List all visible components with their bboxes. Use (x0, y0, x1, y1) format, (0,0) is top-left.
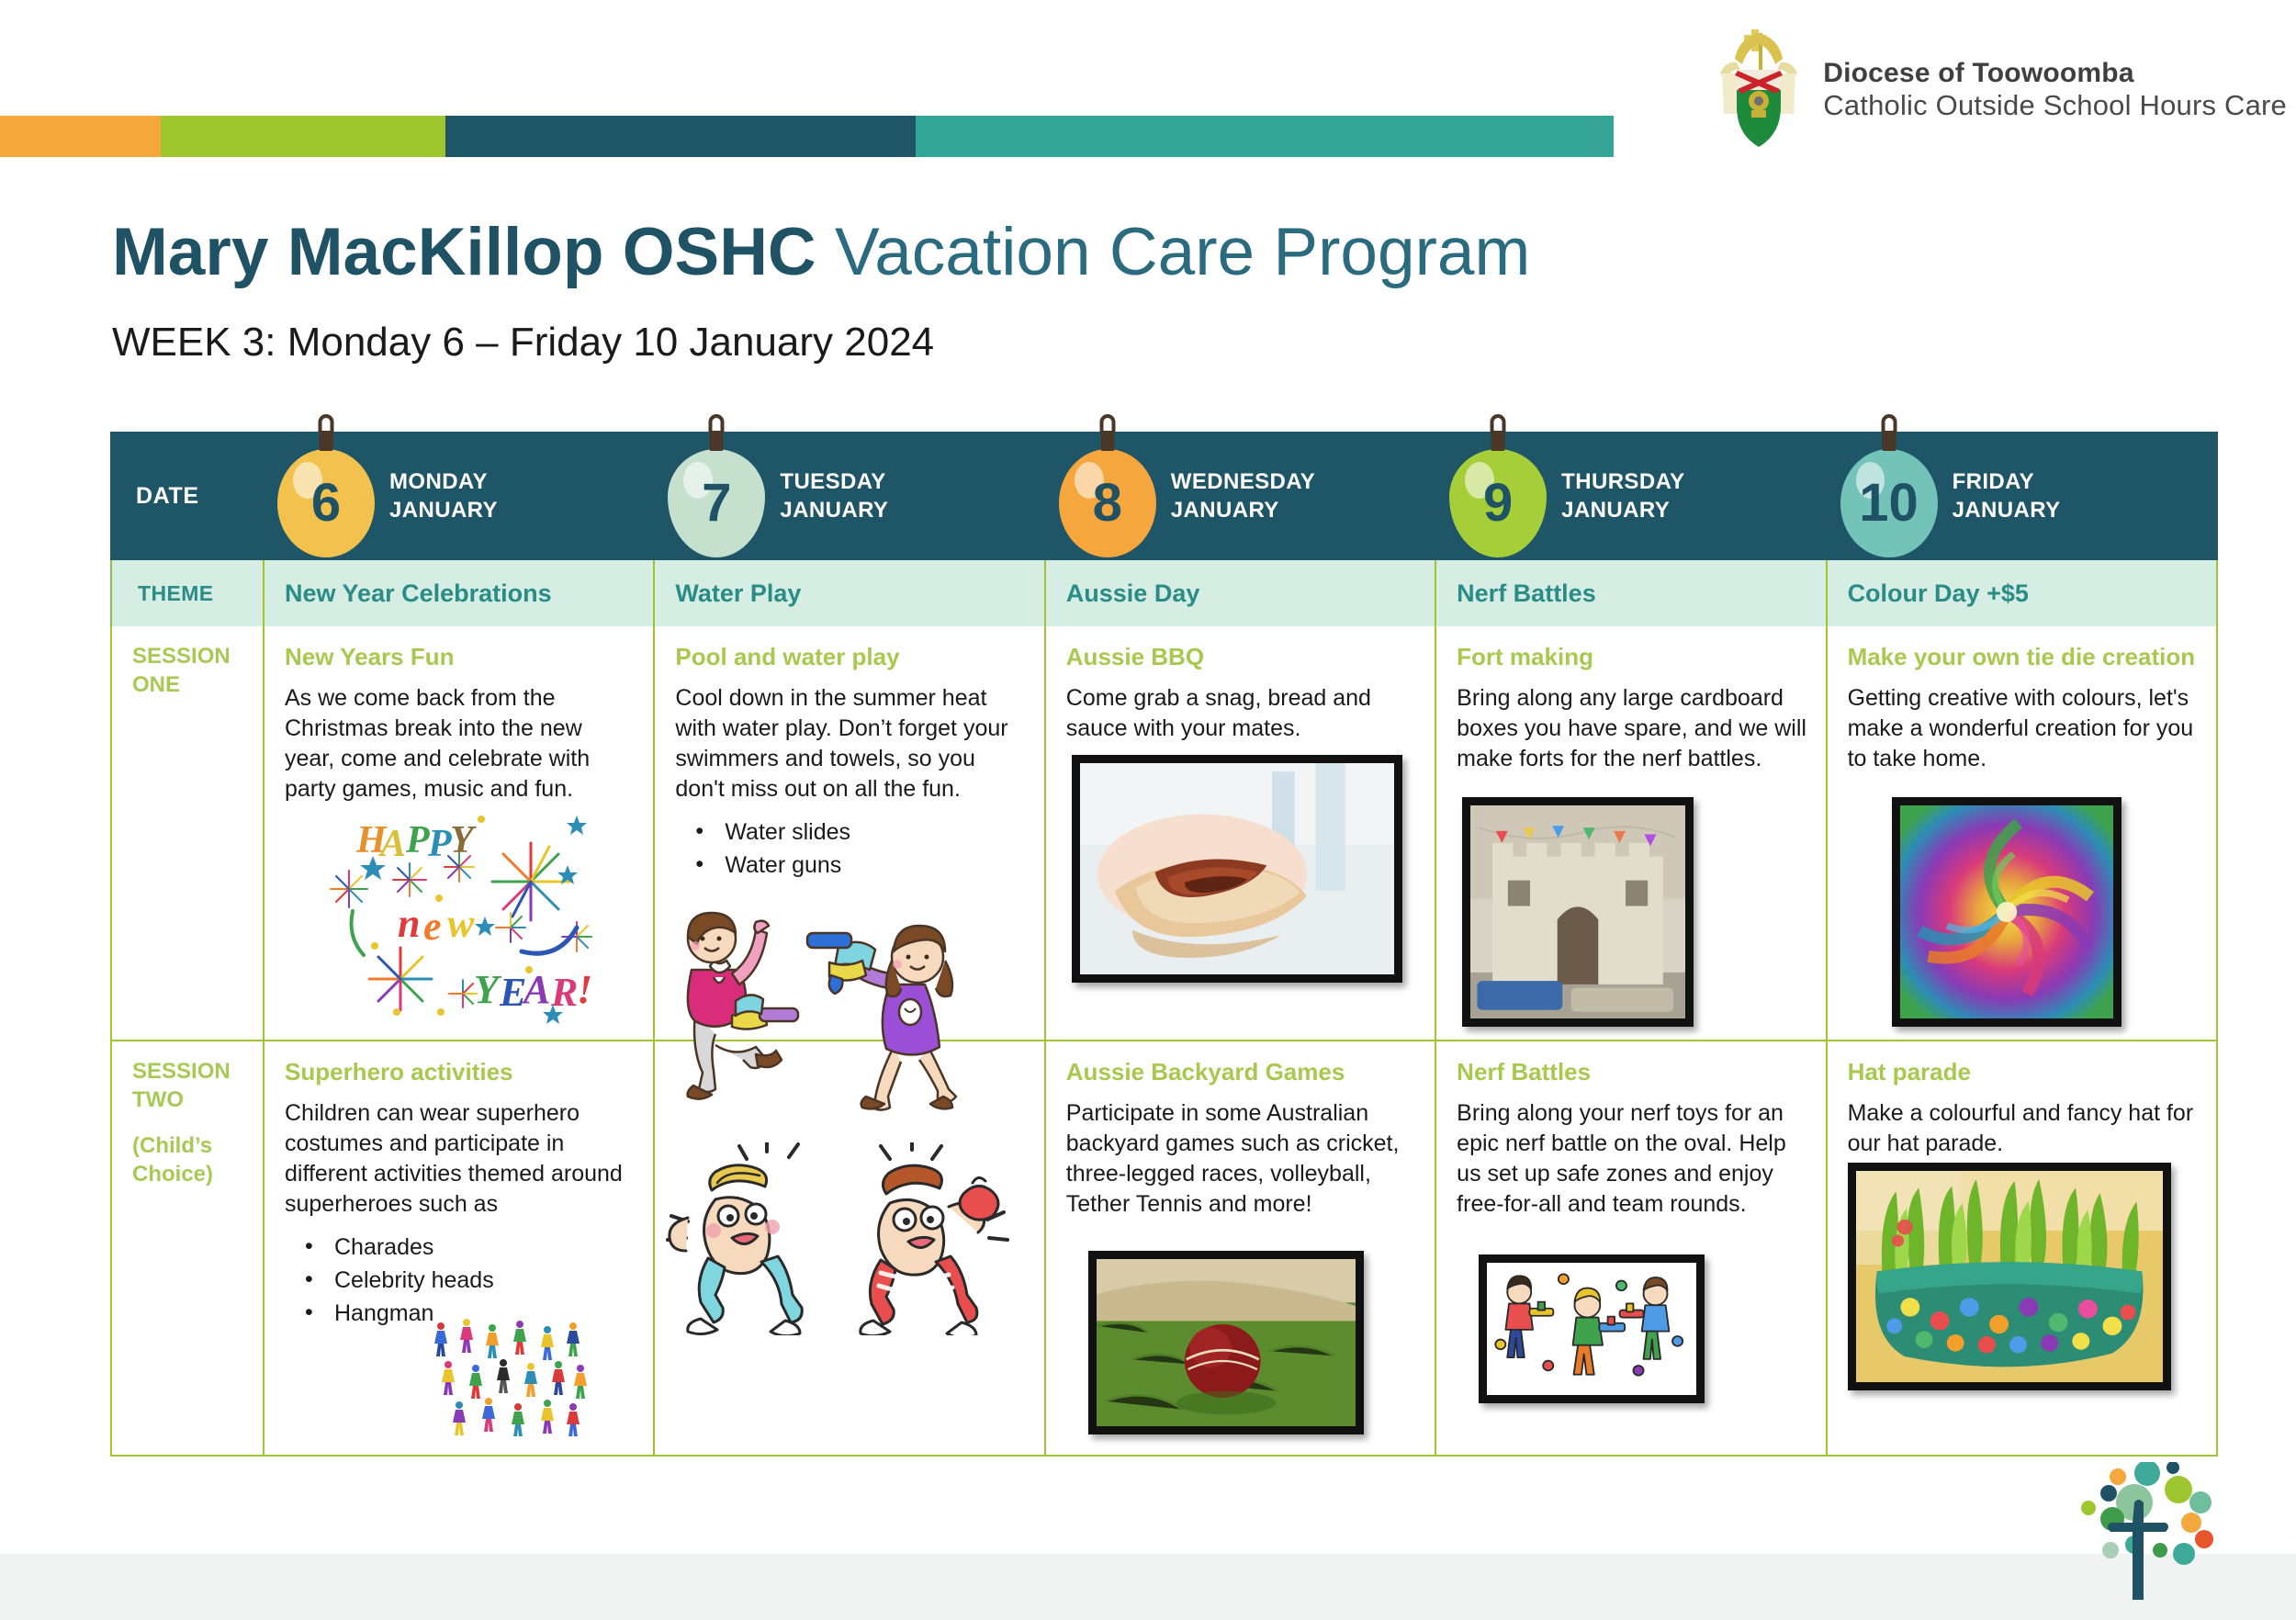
activity-title: Aussie Backyard Games (1066, 1058, 1416, 1087)
bottom-grey-strip (0, 1554, 2296, 1620)
svg-text:P: P (427, 823, 452, 865)
session-two-label: SESSIONTWO (132, 1058, 244, 1114)
colour-band-lime (161, 116, 445, 157)
page-subtitle: WEEK 3: Monday 6 – Friday 10 January 202… (112, 320, 934, 366)
activity-bullets: Charades Celebrity heads Hangman (285, 1231, 635, 1331)
ornament-thursday-icon: 9 (1449, 427, 1547, 565)
session-two-cell-tuesday (655, 1041, 1045, 1455)
theme-value: Nerf Battles (1457, 579, 1596, 608)
session-one-label-cell: SESSIONONE (110, 626, 264, 1040)
logo-line-2: Catholic Outside School Hours Care (1823, 89, 2287, 123)
session-two-cell-friday: Hat parade Make a colourful and fancy ha… (1828, 1041, 2218, 1455)
activity-title: New Years Fun (285, 643, 635, 672)
session-one-row: SESSIONONE New Years Fun As we come back… (110, 626, 2218, 1041)
date-cell-monday: 6 MONDAY JANUARY (264, 432, 655, 560)
list-item: Celebrity heads (285, 1264, 635, 1297)
activity-body: As we come back from the Christmas break… (285, 683, 635, 804)
month-label: JANUARY (1561, 496, 1684, 524)
date-cell-thursday: 9 THURSDAY JANUARY (1436, 432, 1827, 560)
ornament-monday-icon: 6 (277, 427, 375, 565)
colour-band-teal (916, 116, 1614, 157)
ornament-wednesday-icon: 8 (1059, 427, 1156, 565)
list-item: Water guns (675, 849, 1025, 882)
session-two-cell-monday: Superhero activities Children can wear s… (264, 1041, 655, 1455)
ornament-friday-icon: 10 (1840, 427, 1938, 565)
list-item: Charades (285, 1231, 635, 1264)
activity-body: Bring along your nerf toys for an epic n… (1457, 1098, 1806, 1220)
weekday-label: WEDNESDAY (1171, 467, 1315, 496)
theme-cell-monday: New Year Celebrations (264, 560, 655, 626)
vacation-care-program-page: Diocese of Toowoomba Catholic Outside Sc… (0, 0, 2296, 1620)
colour-band-orange (0, 116, 161, 157)
svg-text:R: R (550, 970, 578, 1015)
session-one-cell-tuesday: Pool and water play Cool down in the sum… (655, 626, 1045, 1040)
svg-text:E: E (499, 970, 526, 1015)
colour-band-dark-teal (445, 116, 916, 157)
decorated-grass-hat-photo (1848, 1163, 2171, 1390)
date-row-label-cell: DATE (110, 432, 264, 560)
theme-value: Colour Day +$5 (1848, 579, 2029, 608)
session-two-sublabel: (Child’sChoice) (132, 1132, 244, 1188)
children-running-water-balloons-clipart (660, 1142, 1024, 1335)
svg-text:A: A (377, 823, 406, 865)
happy-new-year-fireworks-clipart: HA PP Y ne w YE AR ! (301, 799, 623, 1024)
cricket-ball-bat-photo (1088, 1251, 1364, 1434)
activity-title: Hat parade (1848, 1058, 2198, 1087)
activity-body: Getting creative with colours, let's mak… (1848, 683, 2198, 774)
diocese-logo: Diocese of Toowoomba Catholic Outside Sc… (1707, 26, 2287, 154)
activity-title: Fort making (1457, 643, 1806, 672)
svg-text:A: A (521, 967, 550, 1012)
list-item: Water slides (675, 816, 1025, 849)
brand-colour-bar (0, 116, 1614, 157)
program-table: DATE 6 MONDAY JANUARY (110, 432, 2218, 1457)
session-two-cell-wednesday: Aussie Backyard Games Participate in som… (1046, 1041, 1436, 1455)
day-number: 7 (702, 477, 731, 530)
activity-title: Make your own tie die creation (1848, 643, 2198, 672)
page-title: Mary MacKillop OSHC Vacation Care Progra… (112, 219, 1530, 286)
activity-body: Bring along any large cardboard boxes yo… (1457, 683, 1806, 774)
theme-value: Water Play (675, 579, 801, 608)
session-one-cell-wednesday: Aussie BBQ Come grab a snag, bread and s… (1046, 626, 1436, 1040)
weekday-label: MONDAY (389, 467, 498, 496)
theme-row-label-cell: THEME (110, 560, 264, 626)
session-two-cell-thursday: Nerf Battles Bring along your nerf toys … (1436, 1041, 1827, 1455)
activity-body: Come grab a snag, bread and sauce with y… (1066, 683, 1416, 744)
svg-text:P: P (405, 819, 430, 861)
page-title-bold: Mary MacKillop OSHC (112, 215, 816, 289)
activity-body: Participate in some Australian backyard … (1066, 1098, 1416, 1220)
month-label: JANUARY (1953, 496, 2061, 524)
theme-value: New Year Celebrations (285, 579, 552, 608)
date-header-row: DATE 6 MONDAY JANUARY (110, 432, 2218, 560)
day-number: 10 (1859, 477, 1919, 530)
svg-text:!: ! (577, 967, 592, 1012)
weekday-label: THURSDAY (1561, 467, 1684, 496)
bishop-crest-icon (1707, 26, 1810, 154)
month-label: JANUARY (1171, 496, 1315, 524)
logo-line-1: Diocese of Toowoomba (1823, 57, 2287, 89)
session-two-label-cell: SESSIONTWO (Child’sChoice) (110, 1041, 264, 1455)
activity-title: Superhero activities (285, 1058, 635, 1087)
theme-value: Aussie Day (1066, 579, 1200, 608)
date-cell-tuesday: 7 TUESDAY JANUARY (655, 432, 1045, 560)
theme-row: THEME New Year Celebrations Water Play A… (110, 560, 2218, 626)
date-cell-wednesday: 8 WEDNESDAY JANUARY (1046, 432, 1436, 560)
cardboard-castle-fort-photo (1462, 797, 1694, 1027)
month-label: JANUARY (389, 496, 498, 524)
tie-dye-swirl-photo (1892, 797, 2122, 1027)
theme-row-label: THEME (138, 581, 214, 606)
activity-body: Children can wear superhero costumes and… (285, 1098, 635, 1220)
page-title-light: Vacation Care Program (816, 215, 1531, 289)
svg-text:e: e (423, 904, 442, 949)
session-two-row: SESSIONTWO (Child’sChoice) Superhero act… (110, 1041, 2218, 1457)
session-one-cell-monday: New Years Fun As we come back from the C… (264, 626, 655, 1040)
date-row-label: DATE (136, 483, 199, 510)
activity-body: Make a colourful and fancy hat for our h… (1848, 1098, 2198, 1159)
activity-title: Nerf Battles (1457, 1058, 1806, 1087)
day-number: 6 (311, 477, 341, 530)
session-one-cell-friday: Make your own tie die creation Getting c… (1828, 626, 2218, 1040)
sausage-in-bread-photo (1072, 755, 1402, 983)
weekday-label: TUESDAY (780, 467, 888, 496)
theme-cell-wednesday: Aussie Day (1046, 560, 1436, 626)
ornament-tuesday-icon: 7 (668, 427, 765, 565)
day-number: 9 (1483, 477, 1513, 530)
svg-text:Y: Y (450, 819, 477, 861)
theme-cell-tuesday: Water Play (655, 560, 1045, 626)
date-cell-friday: 10 FRIDAY JANUARY (1828, 432, 2218, 560)
cross-with-dots-icon (2039, 1462, 2213, 1600)
activity-bullets: Water slides Water guns (675, 816, 1025, 883)
superhero-children-clipart (430, 1317, 595, 1436)
session-one-cell-thursday: Fort making Bring along any large cardbo… (1436, 626, 1827, 1040)
svg-text:n: n (398, 901, 420, 946)
activity-title: Pool and water play (675, 643, 1025, 672)
theme-cell-thursday: Nerf Battles (1436, 560, 1827, 626)
weekday-label: FRIDAY (1953, 467, 2061, 496)
svg-text:Y: Y (474, 967, 502, 1012)
activity-title: Aussie BBQ (1066, 643, 1416, 672)
svg-text:w: w (447, 901, 475, 946)
session-one-label: SESSIONONE (132, 643, 244, 699)
theme-cell-friday: Colour Day +$5 (1828, 560, 2218, 626)
activity-body: Cool down in the summer heat with water … (675, 683, 1025, 804)
nerf-kids-clipart-photo (1479, 1254, 1705, 1403)
month-label: JANUARY (780, 496, 888, 524)
day-number: 8 (1093, 477, 1122, 530)
